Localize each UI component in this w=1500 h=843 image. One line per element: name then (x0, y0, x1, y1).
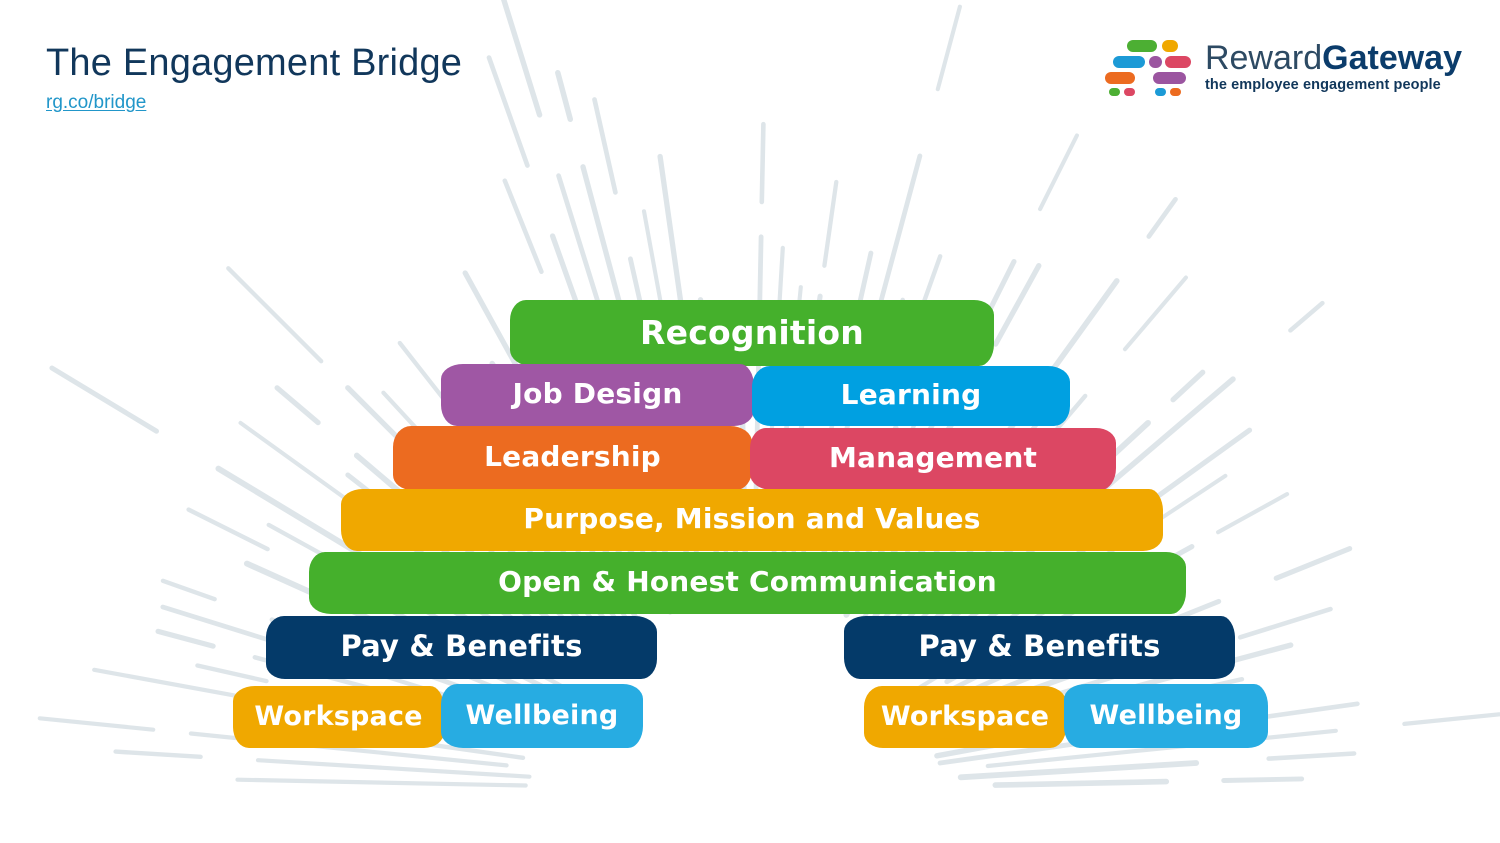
bridge-bar-label: Pay & Benefits (340, 632, 582, 661)
bridge-bar-management-2[interactable]: Management (750, 428, 1116, 490)
bridge-bar-label: Workspace (254, 703, 422, 730)
bridge-bar-label: Wellbeing (466, 702, 619, 729)
bridge-bar-pay-benefits-2[interactable]: Pay & Benefits (844, 616, 1235, 679)
bridge-bar-workspace-3[interactable]: Workspace (864, 686, 1066, 748)
bridge-bar-wellbeing-2[interactable]: Wellbeing (441, 684, 643, 748)
bridge-bar-label: Learning (841, 381, 982, 409)
bridge-bar-label: Leadership (484, 443, 661, 471)
bridge-bar-leadership[interactable]: Leadership (393, 426, 752, 490)
bridge-bar-purpose-mission-and-values[interactable]: Purpose, Mission and Values (341, 489, 1163, 551)
bridge-bar-recognition[interactable]: Recognition (510, 300, 994, 366)
bridge-bar-label: Management (829, 444, 1037, 472)
bridge-bar-label: Recognition (640, 316, 864, 349)
bridge-bar-label: Workspace (881, 703, 1049, 730)
bridge-bar-learning-2[interactable]: Learning (752, 366, 1070, 426)
bridge-bar-label: Pay & Benefits (918, 632, 1160, 661)
bridge-bar-label: Purpose, Mission and Values (523, 505, 980, 533)
bridge-bar-label: Wellbeing (1090, 702, 1243, 729)
bridge-bar-pay-benefits[interactable]: Pay & Benefits (266, 616, 657, 679)
bridge-bar-open-honest-communication[interactable]: Open & Honest Communication (309, 552, 1186, 614)
bridge-bar-workspace[interactable]: Workspace (233, 686, 444, 748)
engagement-bridge-diagram: RecognitionJob DesignLearningLeadershipM… (0, 0, 1500, 843)
bridge-bar-label: Job Design (513, 380, 683, 408)
bridge-bar-label: Open & Honest Communication (498, 568, 997, 596)
bridge-bar-job-design[interactable]: Job Design (441, 364, 754, 426)
bridge-bar-wellbeing-4[interactable]: Wellbeing (1064, 684, 1268, 748)
